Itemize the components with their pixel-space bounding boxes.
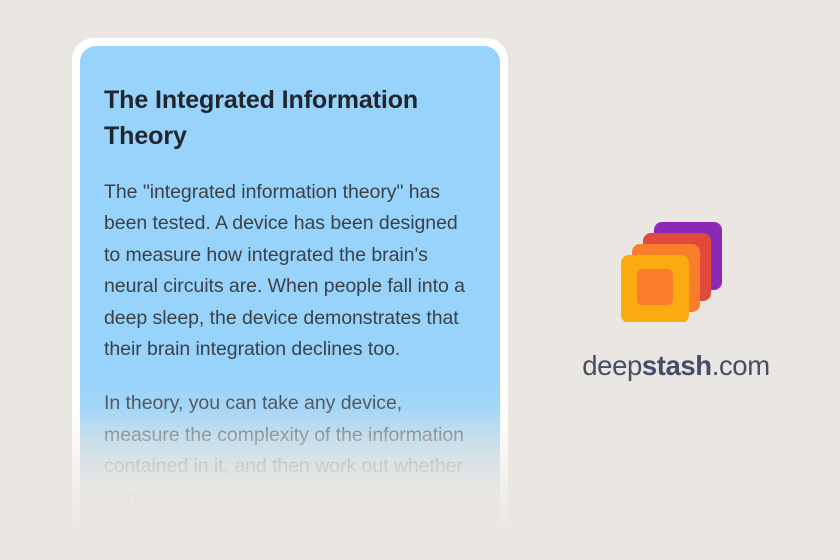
stash-card[interactable]: The Integrated Information Theory The "i… xyxy=(72,38,508,528)
screenshot-stage: The Integrated Information Theory The "i… xyxy=(0,0,840,560)
stacked-squares-icon xyxy=(621,218,731,322)
stash-card-content: The Integrated Information Theory The "i… xyxy=(80,46,500,514)
logo-layer-orange xyxy=(632,244,700,312)
brand-block: deepstash.com xyxy=(556,218,796,380)
wordmark-stash: stash xyxy=(642,350,712,381)
wordmark-dotcom: .com xyxy=(712,350,770,381)
wordmark-deep: deep xyxy=(582,350,642,381)
card-paragraph-1: The "integrated information theory" has … xyxy=(104,177,472,366)
brand-wordmark: deepstash.com xyxy=(556,352,796,380)
card-paragraph-2: In theory, you can take any device, meas… xyxy=(104,388,472,514)
deepstash-logo xyxy=(621,218,731,322)
stash-card-surface: The Integrated Information Theory The "i… xyxy=(80,46,500,528)
card-title: The Integrated Information Theory xyxy=(104,82,472,155)
